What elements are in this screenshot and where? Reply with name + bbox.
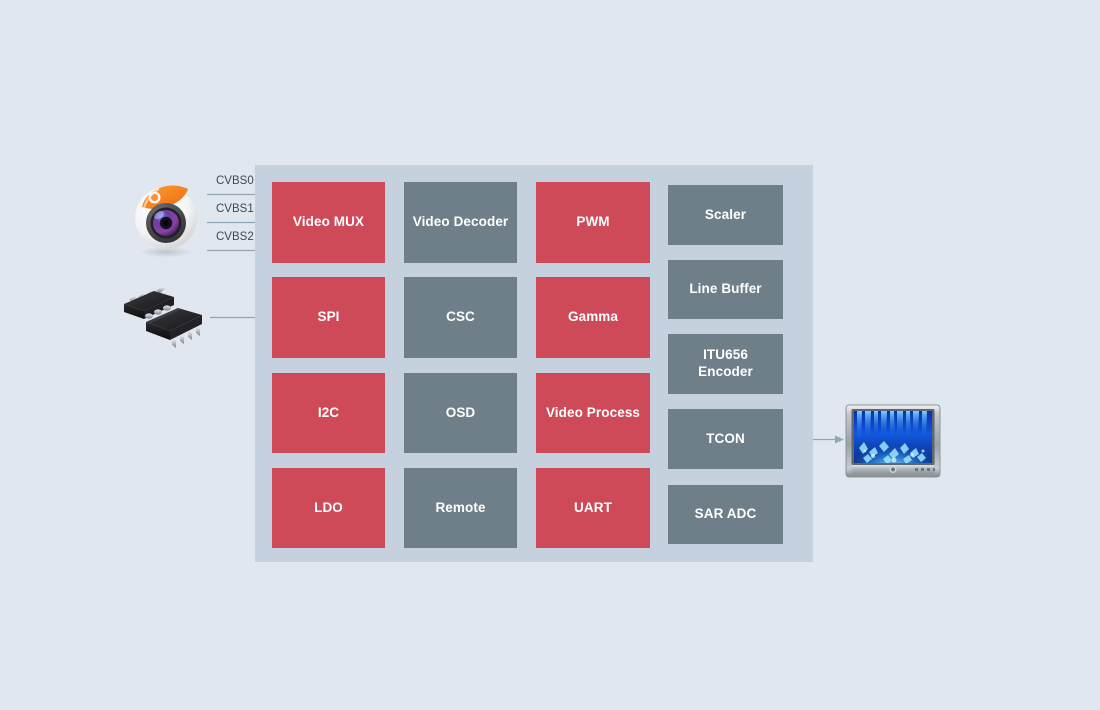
chip-icon xyxy=(116,286,208,352)
signal-label-cvbs0: CVBS0 xyxy=(216,175,254,187)
block-pwm[interactable]: PWM xyxy=(536,182,650,263)
signal-label-cvbs1: CVBS1 xyxy=(216,203,254,215)
block-i2c[interactable]: I2C xyxy=(272,373,385,453)
block-remote[interactable]: Remote xyxy=(404,468,517,548)
soc-panel: Video MUX SPI I2C LDO Video Decoder CSC … xyxy=(255,165,813,562)
signal-label-cvbs2: CVBS2 xyxy=(216,231,254,243)
block-tcon[interactable]: TCON xyxy=(668,409,783,469)
block-ldo[interactable]: LDO xyxy=(272,468,385,548)
block-video-process[interactable]: Video Process xyxy=(536,373,650,453)
block-scaler[interactable]: Scaler xyxy=(668,185,783,245)
block-spi[interactable]: SPI xyxy=(272,277,385,358)
block-uart[interactable]: UART xyxy=(536,468,650,548)
camera-icon xyxy=(133,178,199,258)
block-gamma[interactable]: Gamma xyxy=(536,277,650,358)
block-line-buffer[interactable]: Line Buffer xyxy=(668,260,783,319)
diagram-canvas: CVBS0 CVBS1 CVBS2 Video MUX SPI I2C L xyxy=(0,0,1100,710)
block-itu656-encoder[interactable]: ITU656 Encoder xyxy=(668,334,783,394)
block-video-mux[interactable]: Video MUX xyxy=(272,182,385,263)
block-sar-adc[interactable]: SAR ADC xyxy=(668,485,783,544)
block-osd[interactable]: OSD xyxy=(404,373,517,453)
monitor-icon xyxy=(845,404,941,480)
block-csc[interactable]: CSC xyxy=(404,277,517,358)
block-video-decoder[interactable]: Video Decoder xyxy=(404,182,517,263)
